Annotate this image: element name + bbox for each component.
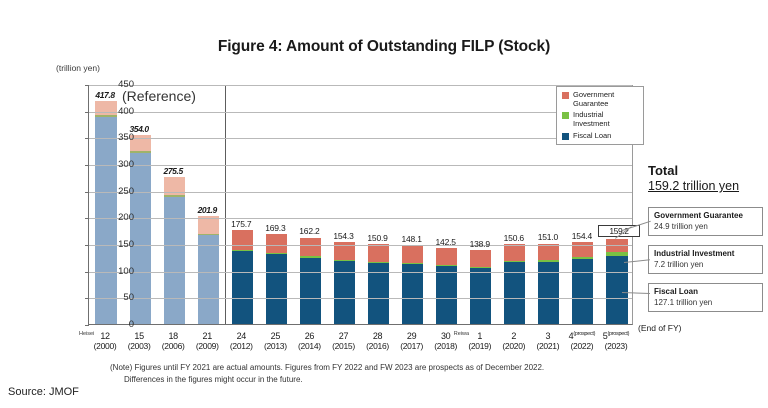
bar-segment-gg bbox=[266, 234, 287, 253]
legend-item-ii: Industrial Investment bbox=[562, 111, 639, 128]
bar-segment-gg bbox=[572, 242, 593, 257]
note-line-2: Differences in the figures might occur i… bbox=[124, 374, 710, 386]
y-axis-tick-label: 150 bbox=[94, 239, 134, 250]
bar-segment-fl bbox=[266, 254, 287, 324]
bar-segment-gg bbox=[368, 244, 389, 262]
bar-3 bbox=[538, 244, 559, 325]
y-axis-tick-label: 300 bbox=[94, 159, 134, 170]
bar-29 bbox=[402, 245, 423, 324]
bar-value-label-3: 151.0 bbox=[530, 232, 566, 242]
annotation-fl-value: 127.1 trillion yen bbox=[654, 298, 757, 307]
note-line-1: (Note) Figures until FY 2021 are actual … bbox=[110, 363, 544, 372]
legend-swatch-gg bbox=[562, 92, 569, 99]
bar-1 bbox=[470, 250, 491, 324]
bar-value-label-30: 142.5 bbox=[428, 237, 464, 247]
chart-plot-area bbox=[88, 85, 633, 325]
y-axis-tick-mark bbox=[85, 272, 89, 273]
total-label: Total bbox=[648, 163, 739, 178]
gridline bbox=[89, 245, 632, 246]
bar-18 bbox=[164, 177, 185, 324]
prospect-superscript: (prospect) bbox=[607, 331, 629, 337]
end-of-fy-label: (End of FY) bbox=[638, 323, 681, 333]
bar-value-label-28: 150.9 bbox=[360, 233, 396, 243]
legend-label-gg: Government Guarantee bbox=[573, 91, 639, 108]
annotation-fl-head: Fiscal Loan bbox=[654, 287, 757, 296]
legend-swatch-fl bbox=[562, 133, 569, 140]
bar-value-label-15: 354.0 bbox=[121, 124, 157, 134]
total-value: 159.2 trillion yen bbox=[648, 179, 739, 193]
bar-segment-gg bbox=[504, 244, 525, 261]
legend-item-fl: Fiscal Loan bbox=[562, 132, 639, 141]
annotation-ii-head: Industrial Investment bbox=[654, 249, 757, 258]
bar-value-label-26: 162.2 bbox=[291, 226, 327, 236]
bar-segment-gg bbox=[300, 238, 321, 257]
bar-value-label-18: 275.5 bbox=[155, 166, 191, 176]
y-axis-tick-mark bbox=[85, 218, 89, 219]
total-summary: Total 159.2 trillion yen bbox=[648, 163, 739, 193]
y-axis-tick-label: 250 bbox=[94, 186, 134, 197]
gridline bbox=[89, 85, 632, 86]
bar-value-label-21: 201.9 bbox=[189, 205, 225, 215]
bar-4 bbox=[572, 242, 593, 324]
y-axis-tick-label: 450 bbox=[94, 79, 134, 90]
bar-21 bbox=[198, 216, 219, 324]
bars-container bbox=[89, 85, 632, 324]
bar-segment-gg bbox=[470, 250, 491, 267]
legend-label-ii: Industrial Investment bbox=[573, 111, 639, 128]
prospect-superscript: (prospect) bbox=[573, 331, 595, 337]
y-axis-tick-label: 100 bbox=[94, 266, 134, 277]
y-axis-tick-mark bbox=[85, 245, 89, 246]
gridline bbox=[89, 298, 632, 299]
y-axis-tick-mark bbox=[85, 112, 89, 113]
y-axis-unit-label: (trillion yen) bbox=[56, 63, 100, 73]
bar-segment-fl bbox=[572, 259, 593, 324]
bar-2 bbox=[504, 244, 525, 324]
y-axis-tick-label: 50 bbox=[94, 292, 134, 303]
bar-30 bbox=[436, 248, 457, 324]
bar-segment-fl bbox=[606, 256, 627, 324]
y-axis-tick-mark bbox=[85, 138, 89, 139]
bar-value-label-27: 154.3 bbox=[325, 231, 361, 241]
gridline bbox=[89, 272, 632, 273]
x-axis-label-5: 5(prospect)(2023) bbox=[594, 331, 638, 351]
bar-5 bbox=[606, 239, 627, 324]
bar-segment-gg bbox=[232, 230, 253, 249]
gridline bbox=[89, 218, 632, 219]
era-tag-reiwa: Reiwa bbox=[454, 331, 469, 337]
bar-25 bbox=[266, 234, 287, 324]
y-axis-tick-mark bbox=[85, 165, 89, 166]
y-axis-tick-label: 200 bbox=[94, 212, 134, 223]
bar-segment-gg bbox=[436, 248, 457, 265]
bar-27 bbox=[334, 242, 355, 324]
bar-segment-gg bbox=[402, 245, 423, 263]
chart-note: (Note) Figures until FY 2021 are actual … bbox=[110, 362, 710, 385]
gridline bbox=[89, 192, 632, 193]
bar-segment-fl bbox=[232, 251, 253, 324]
annotation-fiscal-loan: Fiscal Loan 127.1 trillion yen bbox=[648, 283, 763, 312]
reference-label: (Reference) bbox=[122, 88, 196, 104]
y-axis-tick-mark bbox=[85, 298, 89, 299]
annotation-ii-value: 7.2 trillion yen bbox=[654, 260, 757, 269]
y-axis-tick-mark bbox=[85, 192, 89, 193]
bar-value-label-4: 154.4 bbox=[564, 231, 600, 241]
reference-divider bbox=[225, 85, 226, 324]
bar-value-label-25: 169.3 bbox=[257, 223, 293, 233]
gridline bbox=[89, 112, 632, 113]
annotation-gg-head: Government Guarantee bbox=[654, 211, 757, 220]
annotation-industrial-investment: Industrial Investment 7.2 trillion yen bbox=[648, 245, 763, 274]
annotation-government-guarantee: Government Guarantee 24.9 trillion yen bbox=[648, 207, 763, 236]
bar-value-label-1: 138.9 bbox=[462, 239, 498, 249]
era-tag-heisei: Heisei bbox=[79, 331, 94, 337]
bar-segment-fl bbox=[164, 197, 185, 324]
bar-segment-fl bbox=[198, 235, 219, 324]
bar-26 bbox=[300, 238, 321, 324]
page-title: Figure 4: Amount of Outstanding FILP (St… bbox=[0, 38, 768, 56]
bar-28 bbox=[368, 244, 389, 324]
annotation-gg-value: 24.9 trillion yen bbox=[654, 222, 757, 231]
chart-legend: Government GuaranteeIndustrial Investmen… bbox=[556, 86, 644, 145]
bar-value-label-2: 150.6 bbox=[496, 233, 532, 243]
bar-segment-fl bbox=[300, 258, 321, 325]
legend-label-fl: Fiscal Loan bbox=[573, 132, 611, 141]
gridline bbox=[89, 138, 632, 139]
bar-value-label-29: 148.1 bbox=[394, 234, 430, 244]
legend-swatch-ii bbox=[562, 112, 569, 119]
y-axis-tick-mark bbox=[85, 85, 89, 86]
legend-item-gg: Government Guarantee bbox=[562, 91, 639, 108]
bar-segment-fl bbox=[436, 266, 457, 324]
bar-segment-fl bbox=[470, 268, 491, 324]
bar-value-label-12: 417.8 bbox=[87, 90, 123, 100]
bar-value-label-24: 175.7 bbox=[223, 219, 259, 229]
y-axis-tick-label: 400 bbox=[94, 106, 134, 117]
source-label: Source: JMOF bbox=[8, 386, 79, 398]
y-axis-tick-label: 0 bbox=[94, 319, 134, 330]
bar-segment-fl bbox=[402, 264, 423, 324]
y-axis-tick-mark bbox=[85, 325, 89, 326]
